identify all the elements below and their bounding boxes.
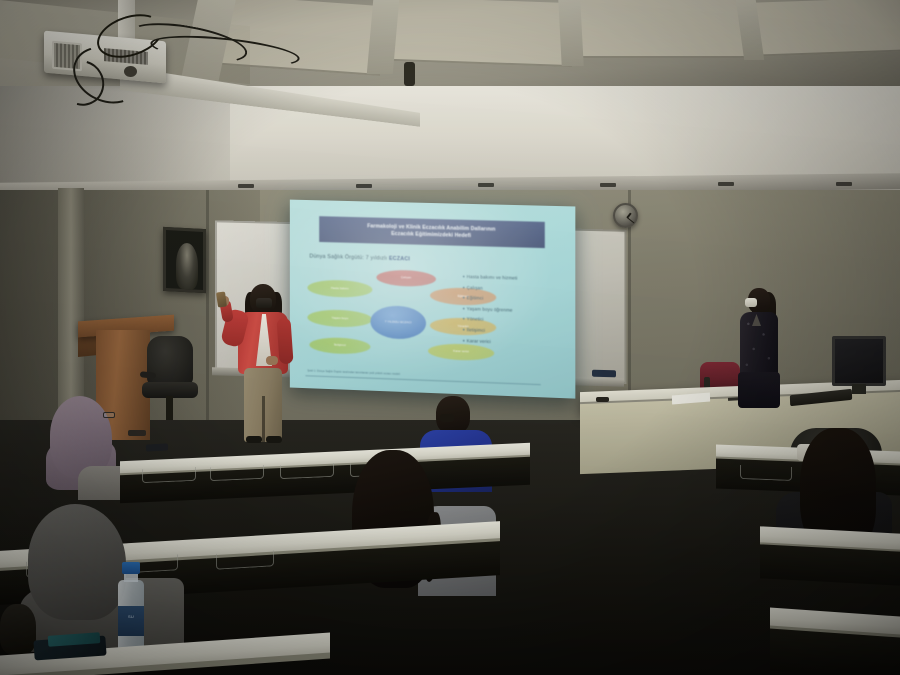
slide-title: Farmakoloji ve Klinik Eczacılık Anabilim… bbox=[359, 223, 503, 241]
slide-diagram-center: 7 YILDIZLI ECZACI bbox=[370, 305, 426, 340]
ledge-vent bbox=[478, 183, 494, 187]
student-head-hijab bbox=[28, 504, 126, 620]
slide-bullet-list: Hasta bakımı ve hizmetiÇalışanEğitimciYa… bbox=[462, 274, 567, 352]
attendee-lower-body bbox=[738, 372, 780, 408]
desk-bag-rack bbox=[280, 463, 334, 479]
ledge-vent bbox=[600, 183, 616, 187]
slide-bullet-item: Eğitimci bbox=[462, 295, 567, 303]
slide-title-bar: Farmakoloji ve Klinik Eczacılık Anabilim… bbox=[319, 216, 545, 248]
slide-diagram-oval: Yaşam boyu bbox=[307, 309, 372, 328]
slide-subtitle-keyword: ECZACI bbox=[389, 256, 410, 263]
lecture-hall-photo: Farmakoloji ve Klinik Eczacılık Anabilim… bbox=[0, 0, 900, 675]
presenter-shoe bbox=[266, 436, 282, 443]
slide-bullet-item: Çalışan bbox=[462, 285, 567, 293]
ledge-vent bbox=[836, 182, 852, 186]
ledge-vent bbox=[356, 184, 372, 188]
wall-seam bbox=[206, 190, 209, 420]
ledge-vent bbox=[238, 184, 254, 188]
presenter-shoe bbox=[246, 436, 262, 443]
slide-diagram-oval: Çalışan bbox=[376, 269, 436, 287]
desktop-monitor bbox=[832, 336, 886, 386]
slide-diagram-oval: Hasta bakımı bbox=[307, 279, 372, 298]
clock-minute-hand bbox=[627, 217, 635, 224]
desk-bag-rack bbox=[142, 467, 196, 483]
office-chair-stem bbox=[166, 396, 173, 420]
whiteboard-marker bbox=[592, 370, 616, 378]
projection-screen: Farmakoloji ve Klinik Eczacılık Anabilim… bbox=[290, 200, 576, 399]
slide-bullet-item: Yaşam boyu öğrenme bbox=[462, 306, 567, 314]
office-chair-back bbox=[147, 336, 193, 386]
ceiling-panel bbox=[756, 0, 900, 57]
slide-diagram-oval: İletişimci bbox=[309, 337, 370, 355]
ledge-vent bbox=[718, 182, 734, 186]
student-front-left bbox=[0, 604, 36, 654]
slide-bullet-item: Yönetici bbox=[462, 316, 567, 325]
bottle-cap bbox=[122, 562, 140, 574]
slide-subtitle: Dünya Sağlık Örgütü: 7 yıldızlı ECZACI bbox=[309, 254, 410, 263]
slide-title-line-2: Eczacılık Eğitimimizdeki Hedefi bbox=[387, 231, 475, 239]
desk-panel bbox=[770, 628, 900, 675]
glasses-icon bbox=[103, 412, 115, 418]
face-mask-icon bbox=[256, 298, 272, 308]
face-mask-icon bbox=[745, 298, 757, 307]
projected-slide: Farmakoloji ve Klinik Eczacılık Anabilim… bbox=[290, 200, 576, 399]
ceiling-beam bbox=[558, 0, 583, 66]
desk-bag-rack bbox=[740, 465, 792, 481]
presenter-leg-seam bbox=[262, 396, 265, 442]
framed-portrait bbox=[163, 227, 206, 293]
mobile-phone bbox=[216, 291, 227, 307]
ceiling-panel bbox=[392, 0, 572, 67]
ceiling-panel bbox=[578, 0, 753, 58]
face-mask-icon bbox=[440, 414, 454, 422]
bottle-label bbox=[118, 606, 144, 636]
desk-object bbox=[128, 430, 146, 436]
desk-bag-rack bbox=[210, 465, 264, 481]
presenter-hand bbox=[266, 356, 278, 365]
portrait-figure bbox=[176, 243, 198, 290]
smartphone bbox=[146, 443, 168, 451]
slide-bullet-item: İletişimci bbox=[462, 327, 567, 336]
bottle-label-text: SU bbox=[118, 614, 144, 619]
slide-bullet-item: Karar verici bbox=[462, 338, 567, 347]
desk-object bbox=[596, 397, 609, 402]
slide-subtitle-prefix: Dünya Sağlık Örgütü: 7 yıldızlı bbox=[309, 254, 389, 262]
wall-clock bbox=[613, 203, 638, 228]
monitor-stand bbox=[852, 384, 866, 394]
desk-panel bbox=[760, 544, 900, 585]
ceiling-bracket bbox=[404, 62, 415, 86]
